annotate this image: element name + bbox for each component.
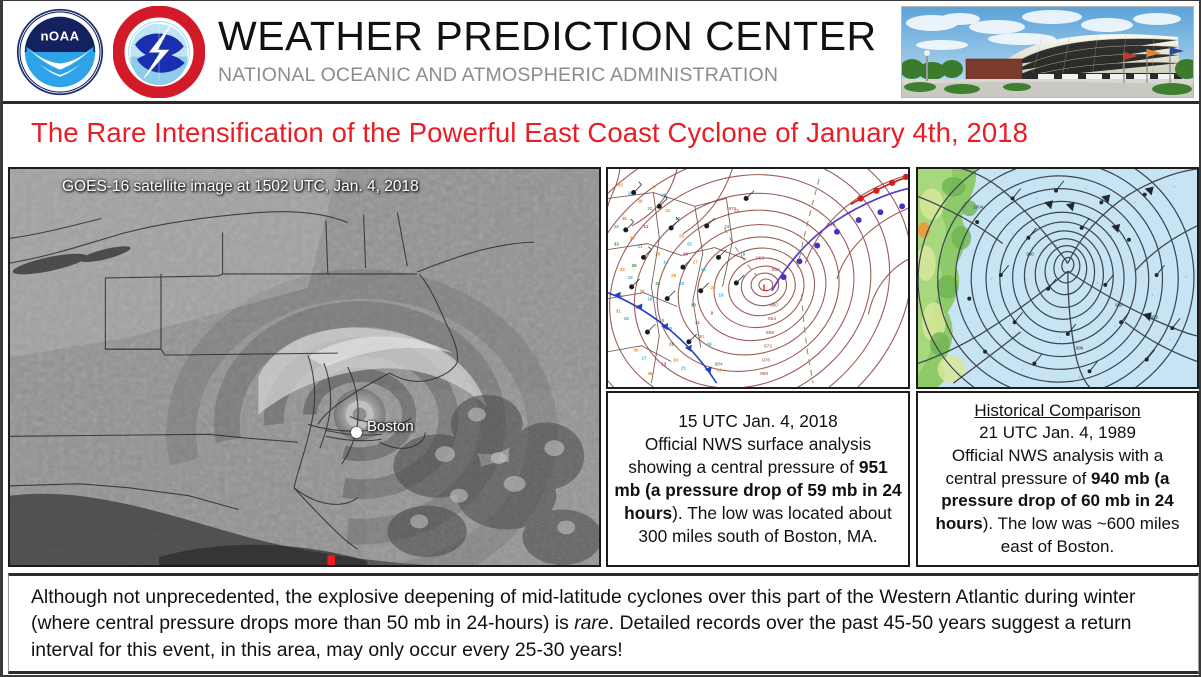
headline-title: The Rare Intensification of the Powerful… — [3, 117, 1028, 149]
svg-text:968: 968 — [766, 330, 774, 336]
right-caption-datetime: 21 UTC Jan. 4, 1989 — [979, 423, 1136, 442]
svg-text:23: 23 — [679, 281, 684, 286]
svg-text:35: 35 — [647, 371, 652, 376]
svg-text:27: 27 — [693, 259, 698, 264]
svg-text:22: 22 — [687, 242, 692, 247]
mid-panel-caption-box: 15 UTC Jan. 4, 2018 Official NWS surface… — [606, 391, 910, 567]
surface-analysis-map-2018: L 956 952 960 964 968 972 976 980 984 94… — [606, 167, 910, 389]
svg-text:35: 35 — [622, 216, 627, 221]
svg-text:11: 11 — [695, 320, 700, 325]
mid-caption-datetime: 15 UTC Jan. 4, 2018 — [678, 411, 837, 431]
noaa-logo-icon: nOAA — [16, 8, 104, 96]
svg-text:22: 22 — [647, 206, 652, 211]
svg-text:32: 32 — [618, 183, 623, 188]
svg-text:992: 992 — [1151, 314, 1159, 319]
svg-text:956: 956 — [756, 255, 764, 261]
right-caption-body-b: ). The low was ~600 miles east of Boston… — [983, 514, 1180, 556]
svg-text:16: 16 — [719, 293, 724, 298]
boston-marker-label: Boston — [367, 418, 414, 435]
svg-text:964: 964 — [768, 316, 776, 322]
svg-text:31: 31 — [665, 208, 670, 213]
svg-text:29: 29 — [717, 367, 722, 372]
svg-text:15: 15 — [701, 267, 706, 272]
svg-text:27: 27 — [651, 185, 656, 190]
svg-text:19: 19 — [707, 342, 712, 347]
summary-text: Although not unprecedented, the explosiv… — [9, 584, 1198, 663]
right-caption-heading: Historical Comparison — [974, 401, 1140, 420]
svg-text:12: 12 — [644, 224, 649, 229]
svg-text:948: 948 — [827, 222, 835, 228]
svg-text:24: 24 — [734, 208, 739, 213]
svg-text:972: 972 — [764, 344, 772, 350]
svg-text:960: 960 — [770, 302, 778, 308]
svg-text:976: 976 — [762, 357, 770, 363]
svg-text:15: 15 — [614, 224, 619, 229]
surface-analysis-map-1989: L 988 960 996 992 1004 — [916, 167, 1199, 389]
svg-text:29: 29 — [671, 273, 676, 278]
svg-text:29: 29 — [632, 263, 637, 268]
svg-text:36: 36 — [634, 348, 639, 353]
svg-text:25: 25 — [679, 234, 684, 239]
svg-text:14: 14 — [663, 259, 668, 264]
satellite-image-panel: GOES-16 satellite image at 1502 UTC, Jan… — [8, 167, 601, 567]
svg-text:19: 19 — [628, 275, 633, 280]
nws-logo-icon — [113, 6, 205, 98]
svg-text:33: 33 — [620, 267, 625, 272]
noaa-wordmark: nOAA — [40, 29, 79, 44]
page-header: nOAA — [3, 1, 1199, 104]
graphicast-page: nOAA — [0, 0, 1201, 677]
svg-text:26: 26 — [711, 285, 716, 290]
svg-text:17: 17 — [642, 356, 647, 361]
svg-text:18: 18 — [740, 251, 745, 256]
svg-text:33: 33 — [673, 357, 678, 362]
low-pressure-symbol: L — [324, 553, 356, 567]
right-panel-caption-box: Historical Comparison 21 UTC Jan. 4, 198… — [916, 391, 1199, 567]
svg-text:30: 30 — [630, 236, 635, 241]
svg-text:996: 996 — [1076, 346, 1084, 351]
svg-text:33: 33 — [614, 242, 619, 247]
mid-caption-body-b: ). The low was located about 300 miles s… — [638, 503, 891, 546]
goes16-satellite-image — [10, 169, 599, 565]
summary-italic-word: rare — [574, 612, 608, 634]
svg-text:23: 23 — [724, 224, 729, 229]
mid-panel-caption-text: 15 UTC Jan. 4, 2018 Official NWS surface… — [608, 410, 908, 548]
svg-text:16: 16 — [647, 297, 652, 302]
map-low-label: L — [763, 283, 769, 293]
svg-text:1004: 1004 — [973, 204, 983, 209]
svg-text:980: 980 — [760, 371, 768, 377]
svg-text:960: 960 — [1026, 251, 1034, 256]
ncwcp-building-photo — [901, 6, 1194, 98]
right-panel-caption-text: Historical Comparison 21 UTC Jan. 4, 198… — [918, 400, 1197, 558]
headline-bar: The Rare Intensification of the Powerful… — [3, 105, 1199, 161]
mid-caption-body-a: Official NWS surface analysis showing a … — [628, 434, 871, 477]
svg-text:28: 28 — [638, 198, 643, 203]
svg-text:31: 31 — [655, 281, 660, 286]
page-title: WEATHER PREDICTION CENTER — [218, 15, 878, 58]
svg-text:31: 31 — [616, 308, 621, 313]
page-subtitle: NATIONAL OCEANIC AND ATMOSPHERIC ADMINIS… — [218, 64, 878, 87]
boston-marker-dot — [351, 427, 362, 438]
header-title-block: WEATHER PREDICTION CENTER NATIONAL OCEAN… — [218, 15, 878, 87]
svg-text:13: 13 — [661, 361, 666, 366]
svg-text:28: 28 — [669, 342, 674, 347]
svg-text:18: 18 — [624, 316, 629, 321]
satellite-image-label: GOES-16 satellite image at 1502 UTC, Jan… — [62, 178, 419, 196]
svg-text:988: 988 — [1115, 302, 1123, 307]
summary-box: Although not unprecedented, the explosiv… — [8, 573, 1199, 674]
svg-text:21: 21 — [681, 365, 686, 370]
svg-text:952: 952 — [772, 267, 780, 273]
